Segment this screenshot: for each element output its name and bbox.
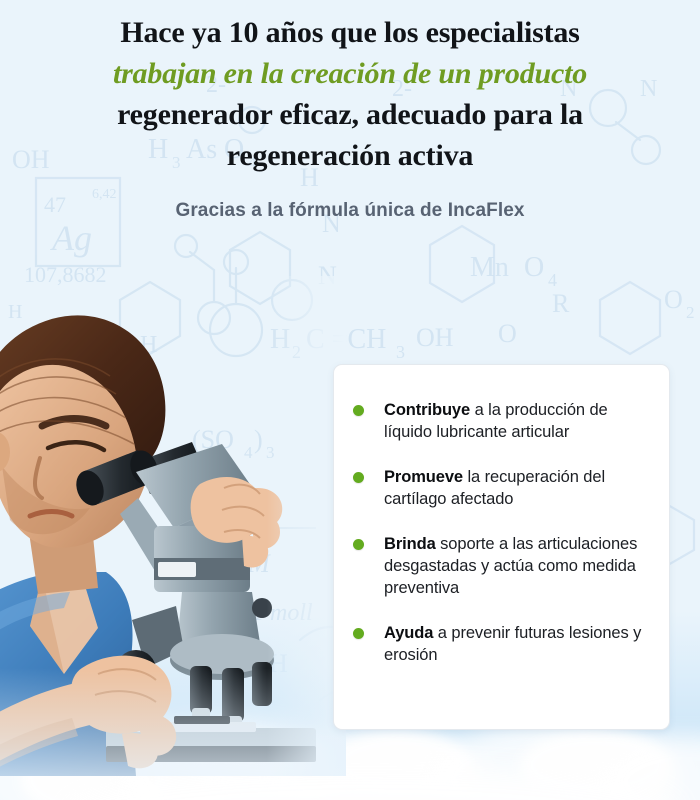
svg-text:Ag: Ag [50,218,92,258]
page-subtitle: Gracias a la fórmula única de IncaFlex [18,199,682,223]
bullet-dot-icon [353,539,364,550]
scientist-microscope-photo [0,276,346,776]
svg-text:O: O [524,252,544,283]
benefits-list: Contribuye a la producción de líquido lu… [353,399,649,666]
list-item: Brinda soporte a las articulaciones desg… [353,533,649,599]
svg-text:O: O [664,285,683,314]
list-item: Contribuye a la producción de líquido lu… [353,399,649,443]
svg-text:2: 2 [686,303,695,322]
bullet-dot-icon [353,405,364,416]
bullet-dot-icon [353,628,364,639]
list-item: Ayuda a prevenir futuras lesiones y eros… [353,622,649,666]
promo-page: OH 47 6,42 Ag 107,8682 H C H 3 As O 4 H … [0,0,700,800]
headline-accent-line: trabajan en la creación de un producto [113,57,587,90]
header-block: Hace ya 10 años que los especialistas tr… [0,0,700,223]
svg-text:OH: OH [416,323,454,352]
svg-text:Mn: Mn [470,252,509,283]
list-item: Promueve la recuperación del cartílago a… [353,466,649,510]
svg-text:O: O [498,319,517,348]
benefit-highlight: Ayuda [384,624,433,642]
svg-text:4: 4 [548,270,557,290]
benefits-card: Contribuye a la producción de líquido lu… [333,364,670,730]
benefit-highlight: Brinda [384,535,436,553]
benefit-highlight: Contribuye [384,401,470,419]
headline-line-1: Hace ya 10 años que los especialistas [120,16,579,49]
headline-line-4: regeneración activa [227,139,473,172]
benefit-highlight: Promueve [384,468,463,486]
page-title: Hace ya 10 años que los especialistas tr… [18,12,682,176]
svg-text:3: 3 [396,342,405,362]
headline-line-3: regenerador eficaz, adecuado para la [117,98,583,131]
svg-text:R: R [552,289,570,318]
bullet-dot-icon [353,472,364,483]
